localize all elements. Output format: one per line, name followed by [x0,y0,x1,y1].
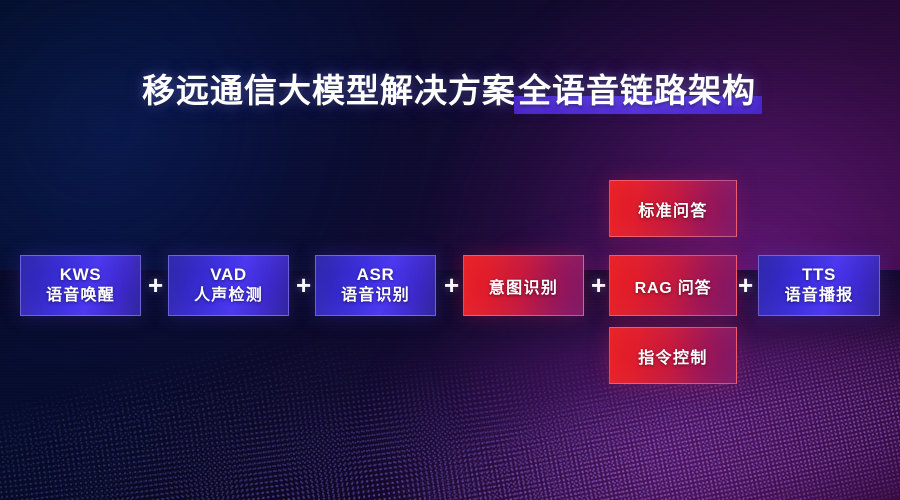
page-title: 移远通信大模型解决方案全语音链路架构 [142,72,758,111]
node-intent-recognition-label: 意图识别 [489,274,559,298]
branch-node-command-control[interactable]: 指令控制 [609,327,737,384]
node-rag-qa-label: RAG 问答 [635,274,712,298]
node-kws-en: KWS [60,264,101,285]
plus-connector-3: + [444,272,459,298]
node-vad-cn: 人声检测 [194,286,263,307]
plus-connector-4: + [591,272,606,298]
plus-connector-2: + [296,272,311,298]
branch-node-standard-qa-label: 标准问答 [638,197,708,221]
node-tts[interactable]: TTS 语音播报 [758,255,880,316]
node-tts-cn: 语音播报 [785,286,854,307]
title-plain-text: 移远通信大模型解决方案 [142,72,516,109]
node-rag-qa[interactable]: RAG 问答 [609,255,737,316]
branch-node-command-control-label: 指令控制 [638,344,708,368]
node-asr-cn: 语音识别 [341,286,410,307]
plus-connector-1: + [148,272,163,298]
node-tts-en: TTS [802,264,836,285]
node-asr-en: ASR [357,264,395,285]
node-intent-recognition[interactable]: 意图识别 [463,255,584,316]
plus-connector-5: + [738,272,753,298]
slide-canvas: 移远通信大模型解决方案全语音链路架构 KWS 语音唤醒 + VAD 人声检测 +… [0,0,900,500]
node-kws-cn: 语音唤醒 [46,286,115,307]
node-vad-en: VAD [210,264,246,285]
title-block: 移远通信大模型解决方案全语音链路架构 [0,72,900,111]
node-asr[interactable]: ASR 语音识别 [315,255,436,316]
node-vad[interactable]: VAD 人声检测 [168,255,289,316]
branch-node-standard-qa[interactable]: 标准问答 [609,180,737,237]
title-highlight-text: 全语音链路架构 [516,72,758,109]
node-kws[interactable]: KWS 语音唤醒 [20,255,141,316]
